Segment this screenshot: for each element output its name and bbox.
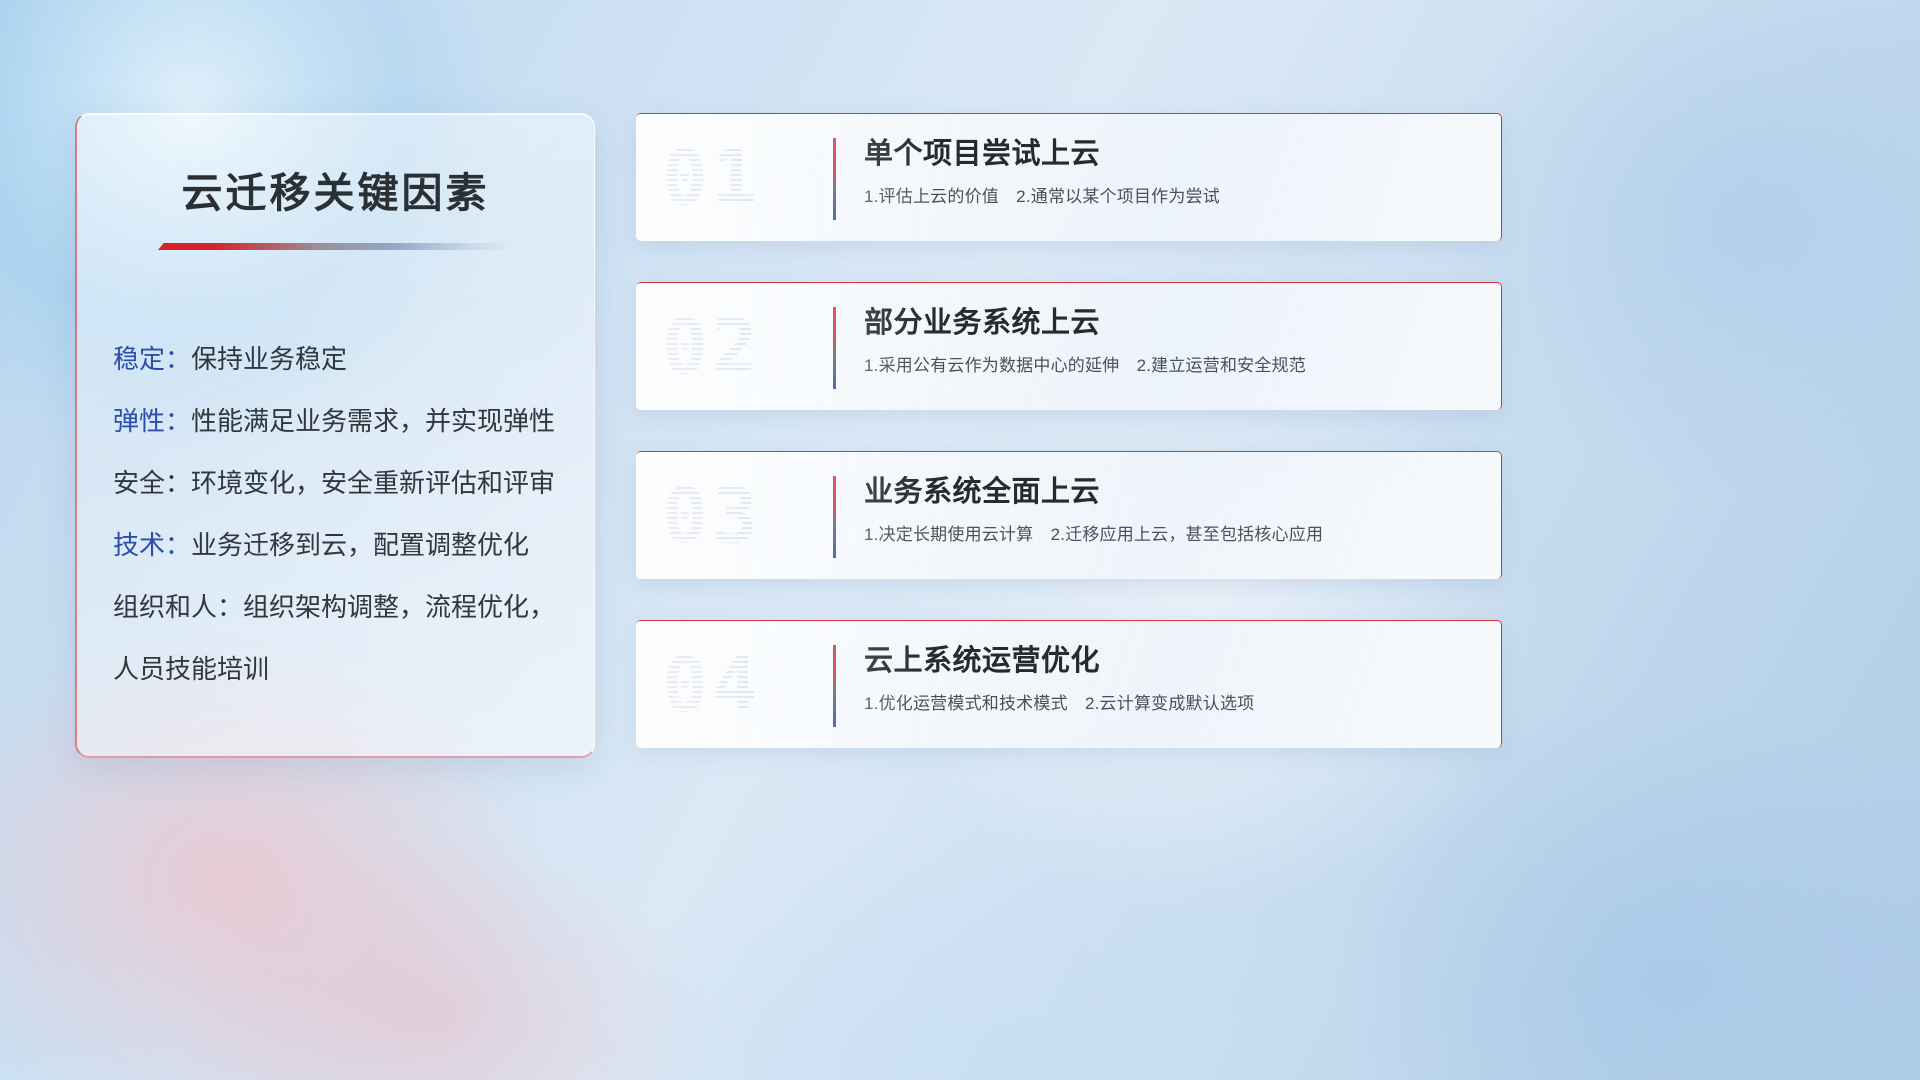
factor-item: 安全：环境变化，安全重新评估和评审 bbox=[113, 452, 558, 514]
stage-number: 02 bbox=[662, 293, 762, 401]
title-underline-accent bbox=[158, 243, 513, 250]
stage-number: 03 bbox=[662, 462, 762, 570]
card-divider-accent bbox=[833, 138, 836, 220]
factor-item: 人员技能培训 bbox=[113, 638, 558, 700]
card-divider-accent bbox=[833, 645, 836, 727]
migration-stage-card[interactable]: 03业务系统全面上云1.决定长期使用云计算 2.迁移应用上云，甚至包括核心应用 bbox=[636, 451, 1502, 579]
stage-number: 01 bbox=[662, 124, 762, 232]
factor-description: 性能满足业务需求，并实现弹性 bbox=[191, 406, 555, 436]
card-divider-accent bbox=[833, 307, 836, 389]
card-heading: 部分业务系统上云 bbox=[864, 303, 1479, 343]
migration-stage-card[interactable]: 01单个项目尝试上云1.评估上云的价值 2.通常以某个项目作为尝试 bbox=[636, 113, 1502, 241]
card-description: 1.决定长期使用云计算 2.迁移应用上云，甚至包括核心应用 bbox=[864, 523, 1479, 547]
factor-item: 稳定：保持业务稳定 bbox=[113, 328, 558, 390]
card-heading: 单个项目尝试上云 bbox=[864, 134, 1479, 174]
card-divider-accent bbox=[833, 476, 836, 558]
card-heading: 业务系统全面上云 bbox=[864, 472, 1479, 512]
factor-label: 技术： bbox=[113, 530, 191, 560]
stage-number: 04 bbox=[662, 631, 762, 739]
factor-description: 组织架构调整，流程优化， bbox=[243, 592, 555, 622]
key-factors-panel: 云迁移关键因素 稳定：保持业务稳定弹性：性能满足业务需求，并实现弹性安全：环境变… bbox=[75, 113, 595, 758]
card-body: 云上系统运营优化1.优化运营模式和技术模式 2.云计算变成默认选项 bbox=[864, 641, 1479, 716]
factor-description: 保持业务稳定 bbox=[191, 344, 347, 374]
factor-label: 安全： bbox=[113, 468, 191, 498]
page-title: 云迁移关键因素 bbox=[77, 159, 594, 219]
card-body: 部分业务系统上云1.采用公有云作为数据中心的延伸 2.建立运营和安全规范 bbox=[864, 303, 1479, 378]
card-body: 业务系统全面上云1.决定长期使用云计算 2.迁移应用上云，甚至包括核心应用 bbox=[864, 472, 1479, 547]
card-description: 1.优化运营模式和技术模式 2.云计算变成默认选项 bbox=[864, 692, 1479, 716]
factor-list: 稳定：保持业务稳定弹性：性能满足业务需求，并实现弹性安全：环境变化，安全重新评估… bbox=[77, 328, 594, 700]
migration-stage-card[interactable]: 02部分业务系统上云1.采用公有云作为数据中心的延伸 2.建立运营和安全规范 bbox=[636, 282, 1502, 410]
factor-item: 弹性：性能满足业务需求，并实现弹性 bbox=[113, 390, 558, 452]
card-body: 单个项目尝试上云1.评估上云的价值 2.通常以某个项目作为尝试 bbox=[864, 134, 1479, 209]
card-description: 1.采用公有云作为数据中心的延伸 2.建立运营和安全规范 bbox=[864, 354, 1479, 378]
factor-label: 稳定： bbox=[113, 344, 191, 374]
factor-item: 技术：业务迁移到云，配置调整优化 bbox=[113, 514, 558, 576]
factor-description: 业务迁移到云，配置调整优化 bbox=[191, 530, 529, 560]
card-heading: 云上系统运营优化 bbox=[864, 641, 1479, 681]
factor-item: 组织和人：组织架构调整，流程优化， bbox=[113, 576, 558, 638]
factor-description: 环境变化，安全重新评估和评审 bbox=[191, 468, 555, 498]
migration-stage-card[interactable]: 04云上系统运营优化1.优化运营模式和技术模式 2.云计算变成默认选项 bbox=[636, 620, 1502, 748]
factor-label: 弹性： bbox=[113, 406, 191, 436]
card-description: 1.评估上云的价值 2.通常以某个项目作为尝试 bbox=[864, 185, 1479, 209]
factor-label: 组织和人： bbox=[113, 592, 243, 622]
migration-stage-card-list: 01单个项目尝试上云1.评估上云的价值 2.通常以某个项目作为尝试02部分业务系… bbox=[636, 113, 1502, 789]
factor-description: 人员技能培训 bbox=[113, 654, 269, 684]
